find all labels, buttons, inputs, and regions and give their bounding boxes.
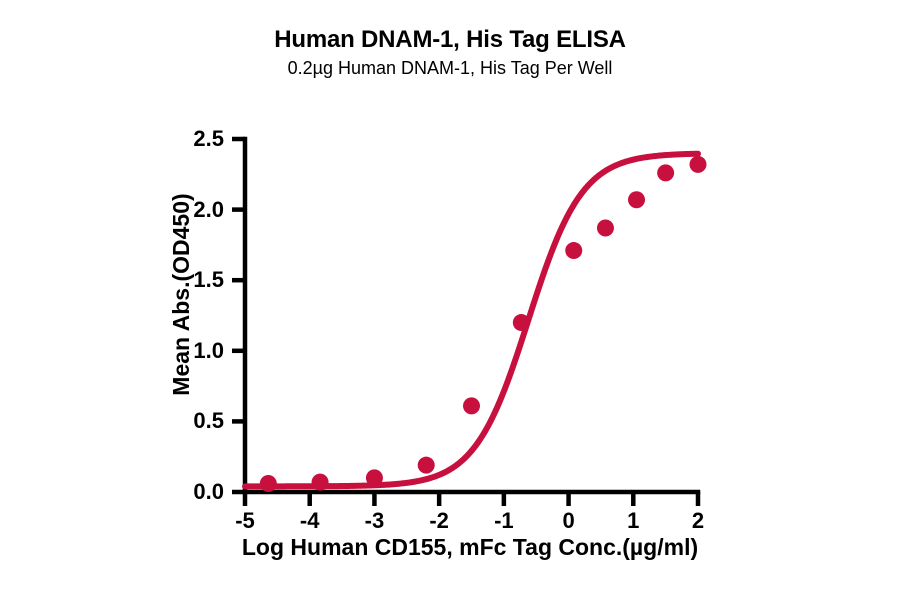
data-point-group xyxy=(260,156,707,492)
page-title: Human DNAM-1, His Tag ELISA xyxy=(0,26,900,54)
data-point xyxy=(366,469,383,486)
data-point xyxy=(312,474,329,491)
chart-figure: Human DNAM-1, His Tag ELISA 0.2µg Human … xyxy=(0,0,900,594)
data-point xyxy=(513,314,530,331)
data-point xyxy=(418,457,435,474)
data-point xyxy=(628,191,645,208)
data-point xyxy=(565,242,582,259)
plot-area xyxy=(245,139,698,492)
data-point xyxy=(657,164,674,181)
plot-svg xyxy=(185,119,758,539)
axes xyxy=(245,139,698,492)
data-point xyxy=(690,156,707,173)
data-point xyxy=(260,475,277,492)
chart-subtitle: 0.2µg Human DNAM-1, His Tag Per Well xyxy=(0,56,900,80)
data-point xyxy=(463,397,480,414)
title-block: Human DNAM-1, His Tag ELISA 0.2µg Human … xyxy=(0,26,900,80)
data-point xyxy=(597,219,614,236)
